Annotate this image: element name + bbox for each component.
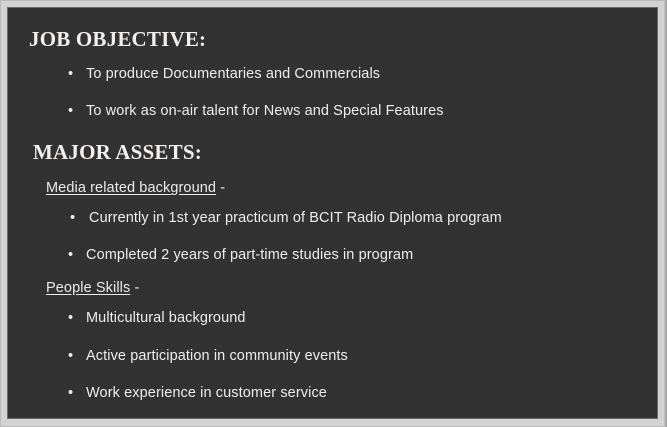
bullet-icon: • — [68, 384, 73, 402]
subheading-label: Media related background — [46, 180, 216, 196]
list-item-label: Active participation in community events — [86, 348, 348, 364]
people-skills-bullet-list: • Multicultural background • Active part… — [24, 309, 641, 401]
list-item-label: Work experience in customer service — [86, 385, 327, 401]
slide-content: JOB OBJECTIVE: • To produce Documentarie… — [8, 8, 657, 402]
section-heading-major-assets: MAJOR ASSETS: — [24, 141, 641, 164]
bullet-icon: • — [68, 102, 73, 120]
slide-frame: JOB OBJECTIVE: • To produce Documentarie… — [0, 0, 667, 427]
list-item: • Currently in 1st year practicum of BCI… — [24, 209, 641, 227]
bullet-icon: • — [68, 65, 73, 83]
list-item-label: Currently in 1st year practicum of BCIT … — [89, 210, 502, 226]
list-item: • To work as on-air talent for News and … — [24, 102, 641, 120]
list-item-label: To produce Documentaries and Commercials — [86, 66, 380, 82]
list-item: • To produce Documentaries and Commercia… — [24, 65, 641, 83]
list-item-label: Multicultural background — [86, 310, 246, 326]
subheading-media-related-background: Media related background - — [46, 180, 641, 197]
list-item: • Completed 2 years of part-time studies… — [24, 246, 641, 264]
bullet-icon: • — [68, 246, 73, 264]
list-item-label: Completed 2 years of part-time studies i… — [86, 247, 413, 263]
bullet-icon: • — [68, 347, 73, 365]
section-heading-job-objective: JOB OBJECTIVE: — [24, 28, 641, 51]
subheading-label: People Skills — [46, 280, 130, 296]
bullet-icon: • — [70, 209, 75, 227]
subheading-people-skills: People Skills - — [46, 280, 641, 297]
subheading-dash: - — [216, 180, 225, 196]
slide-content-area: JOB OBJECTIVE: • To produce Documentarie… — [7, 7, 658, 419]
list-item: • Work experience in customer service — [24, 384, 641, 402]
list-item: • Multicultural background — [24, 309, 641, 327]
bullet-icon: • — [68, 309, 73, 327]
subheading-dash: - — [130, 280, 139, 296]
list-item: • Active participation in community even… — [24, 347, 641, 365]
job-objective-bullet-list: • To produce Documentaries and Commercia… — [24, 65, 641, 120]
media-background-bullet-list: • Currently in 1st year practicum of BCI… — [24, 209, 641, 264]
list-item-label: To work as on-air talent for News and Sp… — [86, 103, 444, 119]
